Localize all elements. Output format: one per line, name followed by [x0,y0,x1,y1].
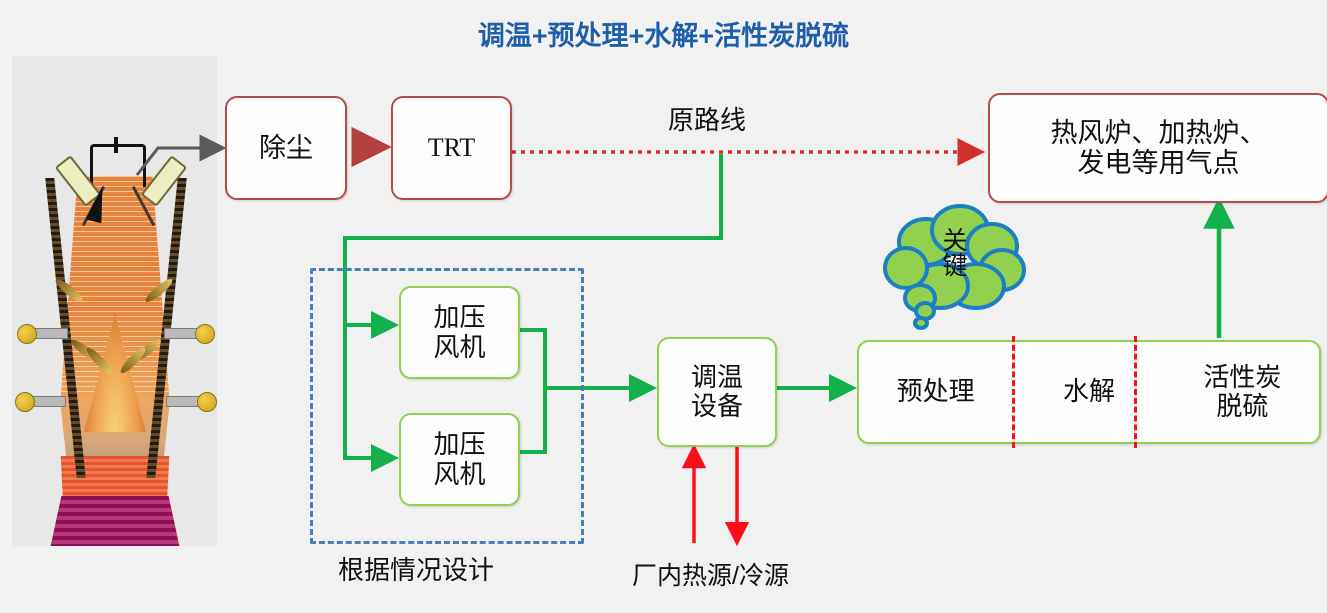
tuyere-knob-icon [197,392,217,412]
segment-activated-carbon-label: 活性炭 脱硫 [1203,363,1281,421]
furnace-tuyere-lower-left [18,396,66,407]
node-gas-use-label-line1: 热风炉、加热炉、 [1051,118,1267,148]
node-gas-use-points[interactable]: 热风炉、加热炉、 发电等用气点 [988,93,1327,203]
segment-activated-carbon-desulfurization[interactable]: 活性炭 脱硫 [1166,342,1319,442]
node-pressure-fan-1-label: 加压 风机 [433,303,485,361]
segment-hydrolysis[interactable]: 水解 [1012,342,1165,442]
fan1-line1: 加压 [433,303,485,332]
node-temperature-adjust-label: 调温 设备 [691,363,743,421]
node-gas-use-label: 热风炉、加热炉、 发电等用气点 [1051,118,1267,178]
furnace-top-hopper [90,144,146,187]
segment-divider-2 [1134,336,1137,448]
cloud-line2: 键 [942,253,967,280]
cloud-callout-key[interactable]: 关 键 [880,198,1030,343]
seg3-line1: 活性炭 [1203,363,1281,392]
label-heat-source: 厂内热源/冷源 [632,556,789,592]
segment-pretreatment[interactable]: 预处理 [859,342,1012,442]
tuyere-knob-icon [195,324,215,344]
fan2-line1: 加压 [433,430,485,459]
node-pressure-fan-2[interactable]: 加压 风机 [399,413,520,506]
tuyere-knob-icon [15,392,35,412]
diagram-canvas: 调温+预处理+水解+活性炭脱硫 [0,0,1327,613]
segment-divider-1 [1012,336,1015,448]
node-pressure-fan-1[interactable]: 加压 风机 [399,286,520,379]
node-gas-use-label-line2: 发电等用气点 [1078,148,1240,178]
label-design-note: 根据情况设计 [338,550,494,587]
fan2-line2: 风机 [433,460,485,489]
label-original-route: 原路线 [668,100,746,137]
node-trt[interactable]: TRT [391,96,512,200]
furnace-tuyere-upper-left [20,328,68,339]
segment-hydrolysis-label: 水解 [1063,377,1115,406]
temp-line1: 调温 [691,363,743,392]
temp-line2: 设备 [691,392,743,421]
page-title: 调温+预处理+水解+活性炭脱硫 [0,14,1327,53]
cloud-line1: 关 [942,228,967,255]
node-dedust-label: 除尘 [259,133,313,163]
node-trt-label: TRT [428,133,476,162]
cloud-callout-text: 关 键 [880,198,1030,310]
segment-pretreatment-label: 预处理 [897,377,975,406]
furnace-base [48,496,182,546]
blast-furnace-illustration [12,56,217,546]
node-pressure-fan-2-label: 加压 风机 [433,430,485,488]
tuyere-knob-icon [17,324,37,344]
furnace-tuyere-upper-right [164,328,212,339]
node-treatment-train[interactable]: 预处理 水解 活性炭 脱硫 [857,340,1321,444]
furnace-tuyere-lower-right [166,396,214,407]
fan1-line2: 风机 [433,333,485,362]
node-temperature-adjust-equipment[interactable]: 调温 设备 [657,337,777,447]
node-dedust[interactable]: 除尘 [225,96,347,200]
furnace-body [12,56,217,546]
seg3-line2: 脱硫 [1216,392,1268,421]
